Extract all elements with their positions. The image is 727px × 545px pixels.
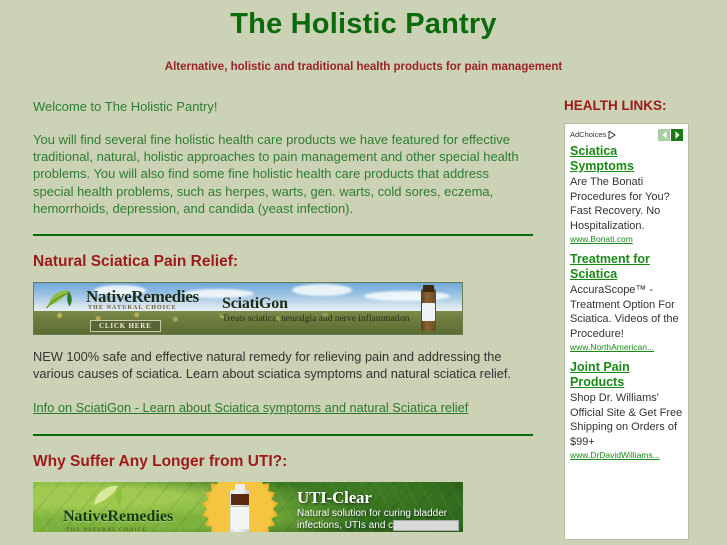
sciatigon-info-link[interactable]: Info on SciatiGon - Learn about Sciatica… <box>33 400 468 415</box>
section-divider <box>33 434 533 436</box>
main-content-column: Welcome to The Holistic Pantry! You will… <box>33 98 533 532</box>
welcome-line: Welcome to The Holistic Pantry! <box>33 98 533 115</box>
adchoices-label: AdChoices <box>570 130 606 139</box>
site-header: The Holistic Pantry Alternative, holisti… <box>0 0 727 74</box>
sidebar-title: HEALTH LINKS: <box>564 98 724 114</box>
sidebar-column: HEALTH LINKS: AdChoices <box>564 98 724 540</box>
chevron-right-icon <box>674 131 681 139</box>
nativeremedies-leaf-icon <box>44 288 82 310</box>
site-tagline: Alternative, holistic and traditional he… <box>0 60 727 74</box>
product-bottle-neck <box>235 484 245 493</box>
product-bottle-label <box>231 506 249 529</box>
product-bottle-liquid <box>231 494 249 505</box>
ad-description: AccuraScope™ - Treatment Option For Scia… <box>570 283 683 341</box>
list-item: Sciatica Symptoms Are The Bonati Procedu… <box>570 144 683 244</box>
ad-headline-link[interactable]: Treatment for Sciatica <box>570 252 683 282</box>
ad-description: Shop Dr. Williams' Official Site & Get F… <box>570 391 683 449</box>
ad-prev-arrow-button[interactable] <box>658 129 670 141</box>
ad-description: Are The Bonati Procedures for You? Fast … <box>570 175 683 233</box>
banner-brand-tagline: THE NATURAL CHOICE <box>66 527 147 532</box>
banner-brand-tagline: THE NATURAL CHOICE <box>88 305 177 311</box>
cloud-shape <box>292 284 352 296</box>
ad-display-url-link[interactable]: www.NorthAmerican... <box>570 342 683 352</box>
adchoices-button[interactable]: AdChoices <box>570 130 616 139</box>
ad-display-url-link[interactable]: www.Bonati.com <box>570 234 683 244</box>
list-item: Treatment for Sciatica AccuraScope™ - Tr… <box>570 252 683 352</box>
banner-product-title: SciatiGon <box>222 295 288 313</box>
section-heading-sciatica: Natural Sciatica Pain Relief: <box>33 252 533 271</box>
banner-brand-name: NativeRemedies <box>86 287 199 307</box>
sciatica-paragraph: NEW 100% safe and effective natural reme… <box>33 348 533 382</box>
ad-unit-container: AdChoices <box>564 123 689 540</box>
list-item: Joint Pain Products Shop Dr. Williams' O… <box>570 360 683 460</box>
nativeremedies-leaf-icon <box>90 483 132 509</box>
banner-cta-button[interactable] <box>393 520 459 531</box>
banner-product-title: UTI-Clear <box>297 488 372 508</box>
ad-nav-arrows <box>658 129 683 141</box>
product-bottle-cap <box>423 285 434 292</box>
page-body: Welcome to The Holistic Pantry! You will… <box>0 98 727 540</box>
banner-cta-button[interactable]: CLICK HERE <box>90 320 161 332</box>
banner-ad-uticlear[interactable]: NativeRemedies THE NATURAL CHOICE UTI-Cl… <box>33 482 463 532</box>
banner-ad-sciatigon[interactable]: NativeRemedies THE NATURAL CHOICE CLICK … <box>33 282 463 335</box>
ad-headline-link[interactable]: Joint Pain Products <box>570 360 683 390</box>
product-bottle-label <box>422 303 435 321</box>
banner-brand-name: NativeRemedies <box>63 508 173 526</box>
adchoices-triangle-icon <box>608 131 616 139</box>
page-title: The Holistic Pantry <box>0 6 727 42</box>
ad-display-url-link[interactable]: www.DrDavidWilliams... <box>570 450 683 460</box>
intro-paragraph: You will find several fine holistic heal… <box>33 131 533 217</box>
ad-unit-topbar: AdChoices <box>570 128 683 141</box>
section-divider <box>33 234 533 236</box>
section-heading-uti: Why Suffer Any Longer from UTI?: <box>33 452 533 471</box>
chevron-left-icon <box>661 131 668 139</box>
ad-next-arrow-button[interactable] <box>671 129 683 141</box>
ad-headline-link[interactable]: Sciatica Symptoms <box>570 144 683 174</box>
cloud-shape <box>364 291 450 301</box>
banner-product-description: Treats sciatica, neuralgia and nerve inf… <box>222 314 422 325</box>
